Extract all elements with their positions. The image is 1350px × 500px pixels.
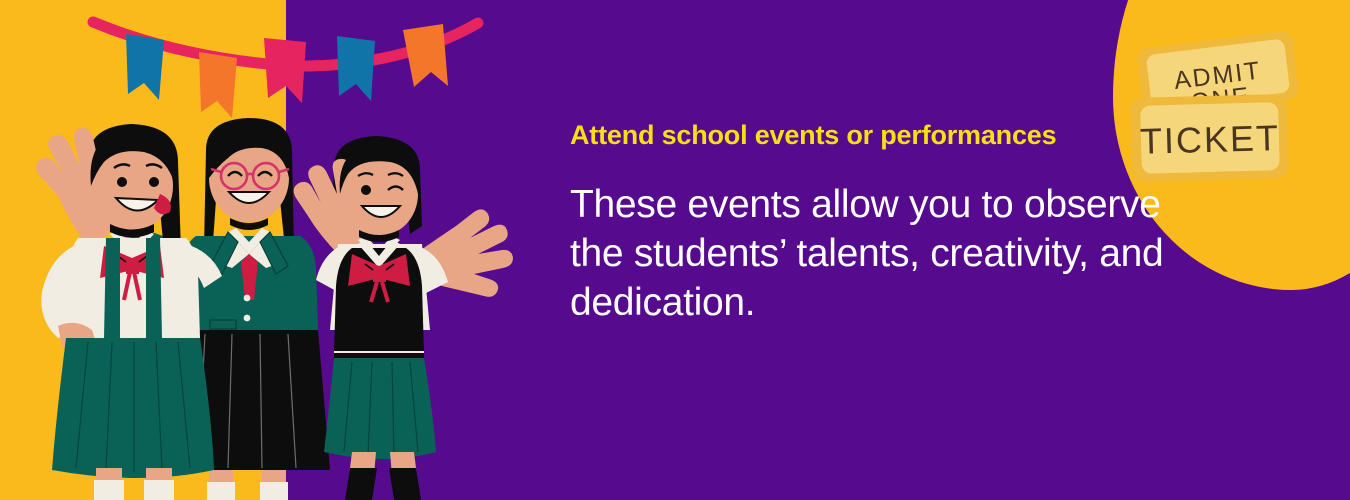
headline: Attend school events or performances — [570, 118, 1170, 154]
student-right-vest — [294, 136, 513, 500]
student-waving-left — [36, 124, 222, 500]
teal-suspender-skirt — [52, 338, 214, 478]
text-column: Attend school events or performances The… — [570, 118, 1170, 327]
knee-sock-right — [389, 468, 421, 500]
suspender-right — [146, 238, 162, 338]
bunting-flag-blue-2 — [337, 36, 375, 101]
bunting-flag-orange-2 — [403, 24, 448, 87]
bunting-flag-orange-1 — [199, 52, 237, 118]
bunting-flag-blue-1 — [126, 34, 164, 100]
body-copy: These events allow you to observe the st… — [570, 180, 1170, 327]
bunting-flag-pink — [264, 38, 306, 103]
suspender-left — [104, 238, 120, 338]
promo-banner: ADMIT ONE TICKET — [0, 0, 1350, 500]
knee-sock-left — [345, 468, 377, 500]
teal-skirt — [324, 358, 436, 459]
party-bunting-icon — [93, 22, 478, 118]
